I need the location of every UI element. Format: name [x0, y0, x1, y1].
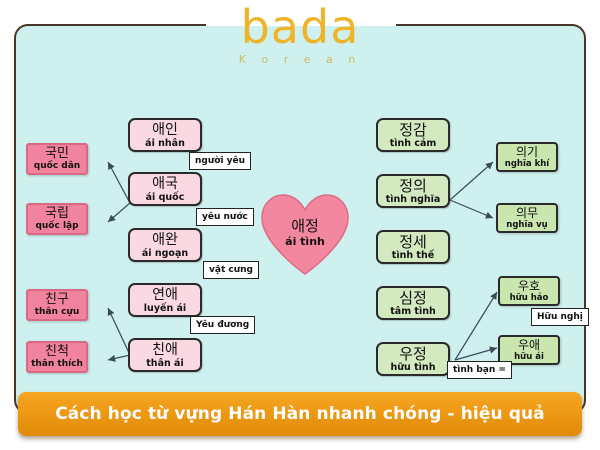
node-vietnamese: tâm tình — [390, 306, 435, 317]
node-vietnamese: tình nghĩa — [386, 194, 441, 205]
callout-huu-nghi: Hữu nghị — [531, 308, 589, 326]
node-vietnamese: hữu ái — [514, 352, 544, 362]
banner-text: Cách học từ vựng Hán Hàn nhanh chóng - h… — [55, 404, 545, 424]
node-korean: 정감 — [399, 122, 427, 138]
heart-vietnamese: ái tình — [258, 235, 352, 248]
node-nghia-khi[interactable]: 의기 nghĩa khí — [496, 142, 558, 172]
heart-label: 애정 ái tình — [258, 218, 352, 248]
node-huu-hao[interactable]: 우호 hữu hảo — [498, 276, 560, 306]
node-quoc-lap[interactable]: 국립 quốc lập — [26, 203, 88, 235]
node-korean: 연애 — [152, 287, 178, 303]
node-korean: 친척 — [45, 345, 69, 359]
node-vietnamese: thân thích — [31, 359, 83, 369]
node-korean: 의무 — [516, 207, 538, 220]
node-vietnamese: thân ái — [146, 358, 183, 369]
node-vietnamese: nghĩa vụ — [506, 220, 547, 230]
node-ai-ngoan[interactable]: 애완 ái ngoạn — [128, 228, 202, 262]
node-tam-tinh[interactable]: 심정 tâm tình — [376, 286, 450, 320]
heart-korean: 애정 — [258, 218, 352, 235]
node-korean: 우호 — [518, 280, 540, 293]
node-korean: 우애 — [518, 339, 540, 352]
node-huu-tinh[interactable]: 우정 hữu tình — [376, 342, 450, 376]
node-vietnamese: ái ngoạn — [142, 248, 188, 259]
node-korean: 친구 — [45, 293, 69, 307]
callout-yeu-duong: Yêu đương — [190, 316, 255, 334]
node-korean: 정세 — [399, 234, 427, 250]
callout-yeu-nuoc: yêu nước — [196, 208, 254, 226]
infographic-root: bada K o r e a n 국민 quốc dân 국립 — [0, 0, 600, 450]
node-nghia-vu[interactable]: 의무 nghĩa vụ — [496, 203, 558, 233]
node-korean: 애인 — [152, 122, 178, 138]
node-korean: 친애 — [152, 342, 178, 358]
callout-nguoi-yeu: người yêu — [189, 152, 251, 170]
node-vietnamese: luyến ái — [144, 303, 186, 314]
node-than-ai[interactable]: 친애 thân ái — [128, 338, 202, 372]
node-tinh-cam[interactable]: 정감 tình cảm — [376, 118, 450, 152]
node-korean: 심정 — [399, 290, 427, 306]
node-tinh-nghia[interactable]: 정의 tình nghĩa — [376, 174, 450, 208]
center-heart: 애정 ái tình — [258, 192, 352, 278]
node-quoc-dan[interactable]: 국민 quốc dân — [26, 143, 88, 175]
node-vietnamese: quốc lập — [35, 221, 78, 231]
node-korean: 정의 — [399, 178, 427, 194]
node-korean: 애완 — [152, 232, 178, 248]
logo-subtitle: K o r e a n — [0, 53, 600, 66]
callout-tinh-ban: tình bạn = — [447, 361, 512, 379]
node-korean: 우정 — [399, 346, 427, 362]
callout-vat-cung: vật cưng — [203, 261, 259, 279]
node-vietnamese: hữu tình — [391, 362, 436, 373]
node-korean: 국민 — [45, 147, 69, 161]
node-than-cuu[interactable]: 친구 thân cựu — [26, 289, 88, 321]
node-vietnamese: ái quốc — [146, 192, 185, 203]
node-vietnamese: tình thế — [392, 250, 434, 261]
node-korean: 국립 — [45, 207, 69, 221]
node-vietnamese: thân cựu — [35, 307, 79, 317]
node-vietnamese: hữu hảo — [510, 293, 549, 303]
node-vietnamese: quốc dân — [34, 161, 80, 171]
node-korean: 애국 — [152, 176, 178, 192]
brand-logo: bada K o r e a n — [0, 2, 600, 66]
node-vietnamese: ái nhân — [145, 138, 185, 149]
node-korean: 의기 — [516, 146, 538, 159]
node-luyen-ai[interactable]: 연애 luyến ái — [128, 283, 202, 317]
node-vietnamese: nghĩa khí — [505, 159, 549, 169]
node-than-thich[interactable]: 친척 thân thích — [26, 341, 88, 373]
node-tinh-the[interactable]: 정세 tình thế — [376, 230, 450, 264]
node-ai-quoc[interactable]: 애국 ái quốc — [128, 172, 202, 206]
logo-wordmark: bada — [0, 2, 600, 52]
node-vietnamese: tình cảm — [390, 138, 437, 149]
node-ai-nhan[interactable]: 애인 ái nhân — [128, 118, 202, 152]
bottom-banner: Cách học từ vựng Hán Hàn nhanh chóng - h… — [18, 392, 582, 436]
